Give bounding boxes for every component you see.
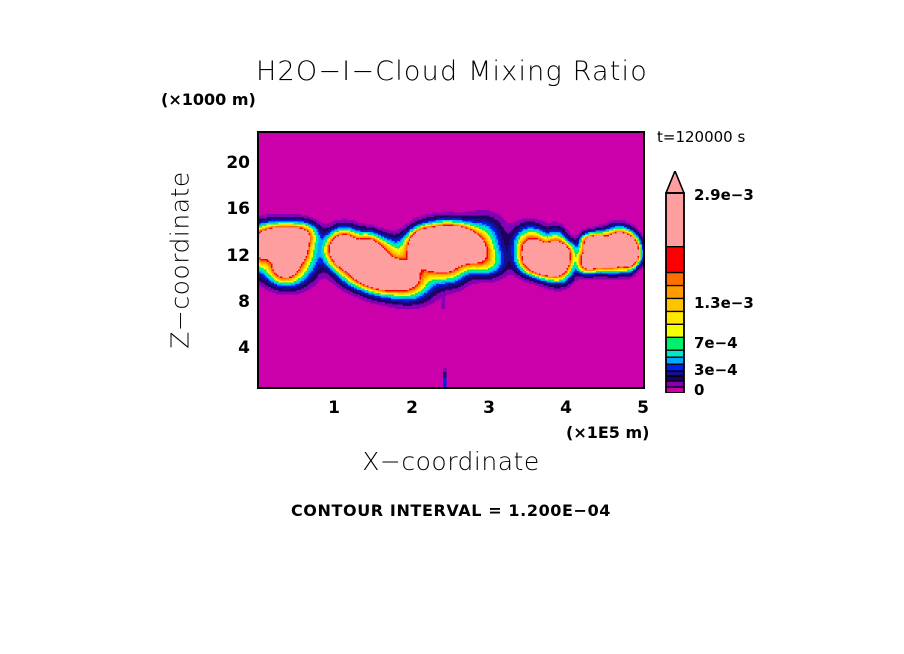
y-axis-unit-label: (×1000 m) <box>161 90 256 109</box>
colorbar-label-1: 1.3e−3 <box>694 294 754 312</box>
x-tick-2: 2 <box>406 398 418 418</box>
colorbar-label-4: 0 <box>694 381 704 399</box>
plot-area <box>257 131 645 389</box>
x-axis-unit-label: (×1E5 m) <box>566 423 649 442</box>
colorbar-label-3: 3e−4 <box>694 361 738 379</box>
x-tick-3: 3 <box>483 398 495 418</box>
y-tick-12: 12 <box>226 246 250 266</box>
time-stamp-label: t=120000 s <box>657 128 745 146</box>
colorbar-label-0: 2.9e−3 <box>694 186 754 204</box>
x-axis-title: X−coordinate <box>362 447 539 476</box>
x-tick-4: 4 <box>560 398 572 418</box>
page-title: H2O−I−Cloud Mixing Ratio <box>0 56 904 87</box>
x-tick-5: 5 <box>637 398 649 418</box>
y-tick-16: 16 <box>226 199 250 219</box>
colorbar-label-2: 7e−4 <box>694 334 738 352</box>
colorbar-swatches <box>665 171 685 393</box>
contour-interval-caption: CONTOUR INTERVAL = 1.200E−04 <box>291 501 611 520</box>
colorbar <box>665 171 685 393</box>
y-tick-4: 4 <box>226 338 250 358</box>
contour-plot-figure: H2O−I−Cloud Mixing Ratio (×1000 m) t=120… <box>0 0 904 654</box>
x-tick-1: 1 <box>328 398 340 418</box>
y-tick-20: 20 <box>226 153 250 173</box>
contour-field <box>259 133 643 387</box>
y-tick-8: 8 <box>226 292 250 312</box>
y-axis-title: Z−coordinate <box>166 171 195 348</box>
